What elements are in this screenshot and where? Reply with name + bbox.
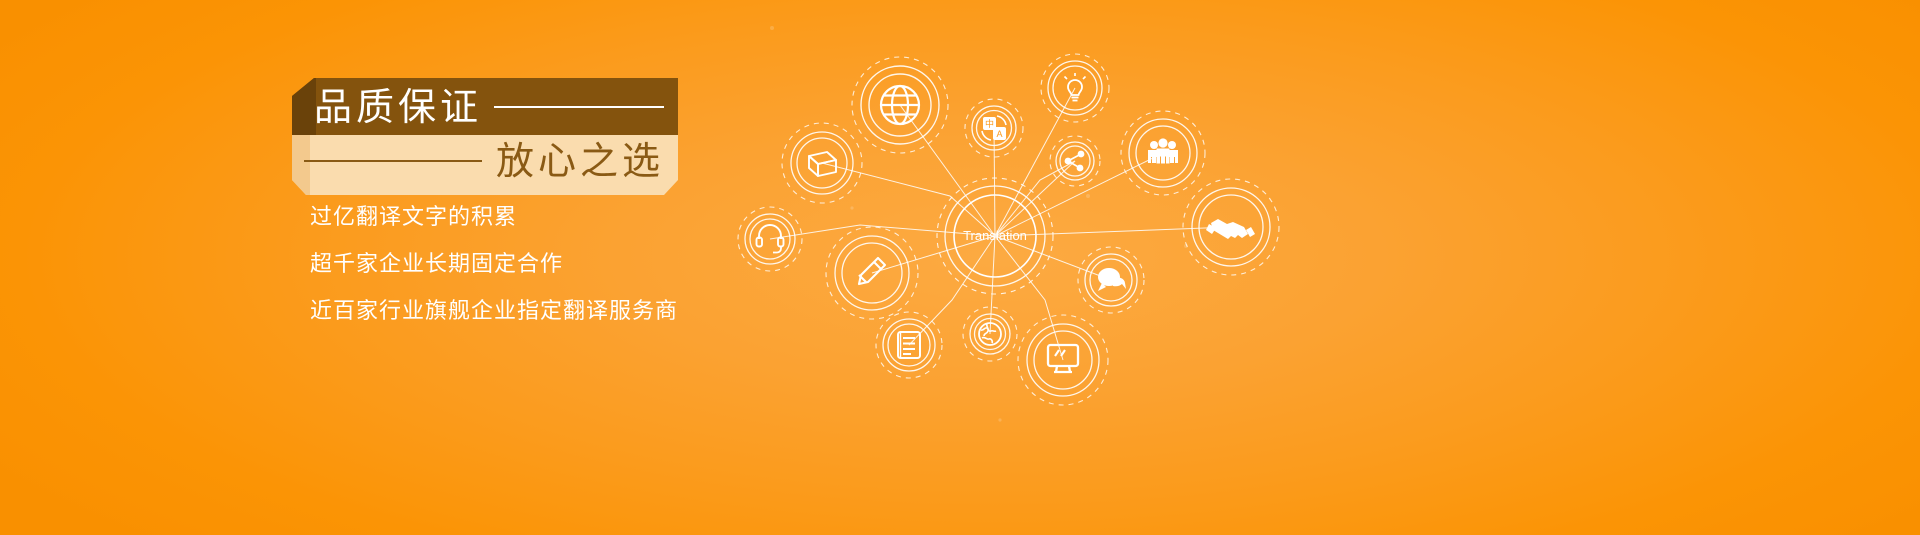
node-chat [1078,247,1144,313]
people-group-icon [1148,138,1178,163]
edge-langcard-center [994,128,995,236]
badge-bottom-rule [304,160,482,162]
badge-bottom-line: 放心之选 [304,136,664,186]
background-sparkles [770,26,1188,422]
translation-network-graphic: 中 A [700,0,1400,535]
chat-bubble-icon [1098,268,1126,291]
node-translation-hub: Translation [937,178,1053,294]
handshake-icon [1206,219,1255,239]
language-card-icon [982,116,1006,140]
node-people [1121,111,1205,195]
badge-bottom-text: 放心之选 [496,142,664,180]
pencil-icon [859,258,885,284]
edge-monitor-center [995,236,1063,360]
promo-banner: 品质保证 放心之选 过亿翻译文字的积累 超千家企业长期固定合作 近百家行业旗舰企… [0,0,1920,535]
badge-top-rule [494,106,664,108]
badge-top-line: 品质保证 [314,81,664,133]
quality-badge: 品质保证 放心之选 [292,78,678,195]
lightbulb-icon [1065,73,1086,101]
edge-handshake-center [995,227,1231,236]
edge-globe-center [900,105,995,236]
hub-label: Translation [963,228,1027,243]
badge-top-bar-shadow [292,78,316,135]
book-icon [809,152,836,176]
node-globe [852,57,948,153]
globe-icon [881,86,919,124]
badge-top-text: 品质保证 [314,88,482,126]
node-handshake [1183,179,1279,275]
node-book [782,123,862,203]
